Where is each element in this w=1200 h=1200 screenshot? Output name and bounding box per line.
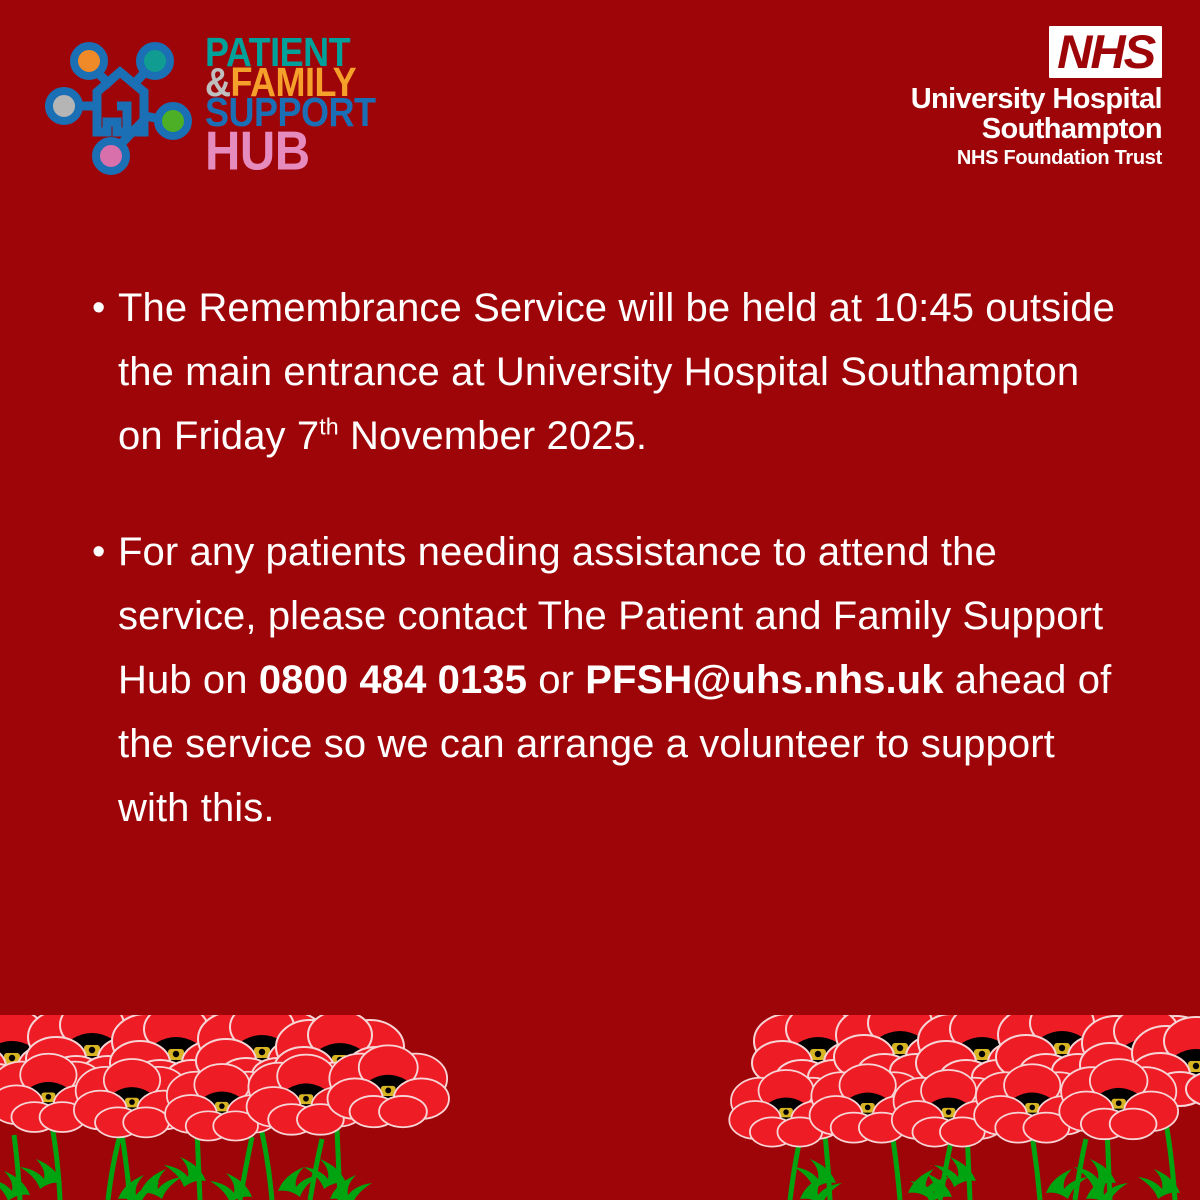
bullet-1-suffix: November 2025.: [339, 414, 647, 458]
poppy-flower-group-left: [0, 1015, 449, 1141]
poppy-illustration: [0, 1015, 1200, 1200]
poster-canvas: PATIENT &FAMILY SUPPORT HUB NHS Universi…: [0, 0, 1200, 1200]
nhs-trust-line-3: NHS Foundation Trust: [911, 146, 1162, 170]
nhs-trust-line-2: Southampton: [911, 115, 1162, 145]
hub-network-house-icon: [45, 28, 195, 178]
poppy-flower-group-right: [729, 1015, 1200, 1147]
bullet-item-assistance-contact: • For any patients needing assistance to…: [92, 520, 1122, 840]
contact-phone-number: 0800 484 0135: [259, 658, 527, 702]
logo-word-hub: HUB: [205, 129, 376, 175]
bullet-text-assistance-contact: For any patients needing assistance to a…: [118, 520, 1122, 840]
bullet-marker-icon: •: [92, 276, 118, 340]
bullet-1-ordinal-suffix: th: [319, 414, 339, 440]
nhs-trust-logo: NHS University Hospital Southampton NHS …: [911, 26, 1162, 170]
nhs-trust-line-1: University Hospital: [911, 85, 1162, 115]
announcement-body: • The Remembrance Service will be held a…: [92, 276, 1122, 892]
bullet-item-remembrance-service: • The Remembrance Service will be held a…: [92, 276, 1122, 468]
patient-family-support-hub-logo: PATIENT &FAMILY SUPPORT HUB: [45, 28, 376, 178]
bullet-marker-icon: •: [92, 520, 118, 584]
poppy-field-decoration: [0, 1015, 1200, 1200]
bullet-2-part-2: or: [527, 658, 585, 702]
logo-wordmark: PATIENT &FAMILY SUPPORT HUB: [205, 36, 376, 171]
nhs-mark-text: NHS: [1057, 28, 1154, 75]
nhs-logo-box: NHS: [1049, 26, 1162, 78]
contact-email-address: PFSH@uhs.nhs.uk: [585, 658, 943, 702]
bullet-text-remembrance-service: The Remembrance Service will be held at …: [118, 276, 1122, 468]
